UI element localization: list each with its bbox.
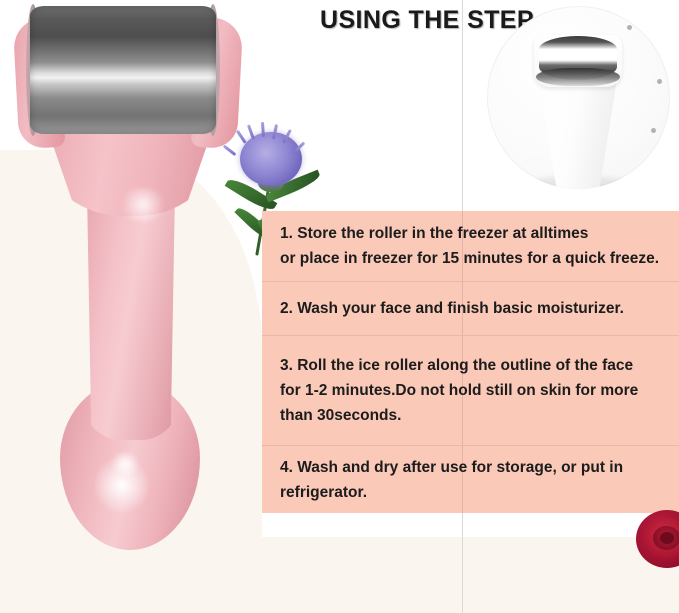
inset-dot-middle xyxy=(657,79,662,84)
inset-roller-handle xyxy=(535,76,621,189)
step-3-line-2: for 1-2 minutes.Do not hold still on ski… xyxy=(280,378,661,403)
ice-roller-product xyxy=(0,0,260,560)
inset-roller-lip xyxy=(536,68,620,86)
rose-center xyxy=(660,532,674,544)
page-title: USING THE STEP xyxy=(320,6,534,35)
step-2-line-1: 2. Wash your face and finish basic moist… xyxy=(280,296,661,321)
instruction-step-4: 4. Wash and dry after use for storage, o… xyxy=(262,445,679,513)
roller-bulb-highlight xyxy=(108,452,142,476)
step-4-line-2: refrigerator. xyxy=(280,480,661,505)
product-infographic: USING THE STEP xyxy=(0,0,679,613)
flower-petal-spike xyxy=(223,145,237,157)
instructions-panel: 1. Store the roller in the freezer at al… xyxy=(262,211,679,513)
step-3-line-1: 3. Roll the ice roller along the outline… xyxy=(280,353,661,378)
roller-steel-drum xyxy=(30,6,216,134)
product-inset-circle xyxy=(487,6,670,189)
instruction-step-2: 2. Wash your face and finish basic moist… xyxy=(262,281,679,335)
instruction-step-1: 1. Store the roller in the freezer at al… xyxy=(262,211,679,281)
step-1-line-2: or place in freezer for 15 minutes for a… xyxy=(280,246,661,271)
instruction-step-3: 3. Roll the ice roller along the outline… xyxy=(262,335,679,445)
step-3-line-3: than 30seconds. xyxy=(280,403,661,428)
step-4-line-1: 4. Wash and dry after use for storage, o… xyxy=(280,455,661,480)
flower-head xyxy=(240,132,302,186)
step-1-line-1: 1. Store the roller in the freezer at al… xyxy=(280,221,661,246)
flower-petal-spike xyxy=(247,124,255,139)
inset-dot-bottom xyxy=(651,128,656,133)
rose-decoration xyxy=(636,506,679,584)
roller-neck-highlight xyxy=(118,188,168,222)
flower-petal-spike xyxy=(236,130,247,144)
roller-handle-shaft xyxy=(76,190,186,440)
inset-dot-top xyxy=(627,25,632,30)
